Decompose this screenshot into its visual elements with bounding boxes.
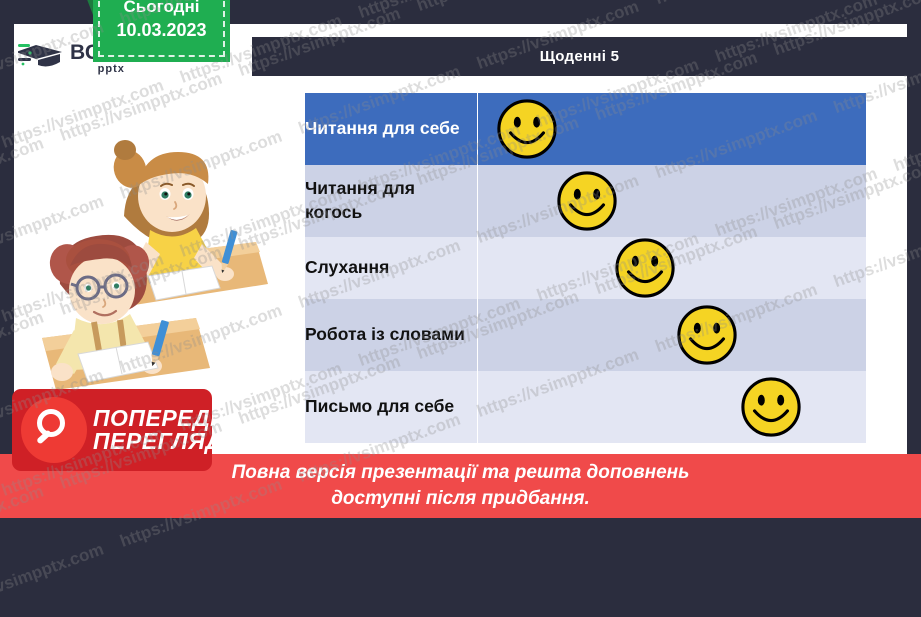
daily-five-table: Читання для себеЧитання для когосьСлухан… [305,93,866,443]
date-badge: Сьогодні 10.03.2023 [93,0,230,62]
magnifier-icon [21,397,87,463]
purchase-notice-line2: доступні після придбання. [331,487,590,512]
row-label: Робота із словами [305,299,477,371]
date-value: 10.03.2023 [116,20,206,41]
preview-badge-line2: ПЕРЕГЛЯД [93,430,251,453]
graduation-cap-icon [18,41,66,75]
smiley-face-icon [676,304,738,366]
table-row: Письмо для себе [305,371,866,443]
page-title: Щоденні 5 [252,37,907,76]
row-smiley-cell [477,165,866,237]
row-smiley-cell [477,299,866,371]
table-row: Читання для когось [305,165,866,237]
illustration-children-writing [24,124,274,414]
row-label: Читання для себе [305,93,477,165]
table-row: Читання для себе [305,93,866,165]
smiley-face-icon [614,237,676,299]
table-row: Робота із словами [305,299,866,371]
row-height-box [478,299,867,371]
row-label: Слухання [305,237,477,299]
logo-subtext: pptx [70,64,125,75]
row-height-box [478,93,867,165]
row-height-box [478,371,867,443]
row-height-box [478,165,867,237]
purchase-notice-line1: Повна версія презентації та решта доповн… [232,461,690,486]
table-row: Слухання [305,237,866,299]
preview-badge-line1: ПОПЕРЕДНІЙ [93,407,251,430]
smiley-face-icon [496,98,558,160]
preview-badge[interactable]: ПОПЕРЕДНІЙ ПЕРЕГЛЯД [12,389,212,471]
row-smiley-cell [477,237,866,299]
row-smiley-cell [477,93,866,165]
row-height-box [478,237,867,299]
row-label: Читання для когось [305,165,477,237]
smiley-face-icon [740,376,802,438]
smiley-face-icon [556,170,618,232]
row-smiley-cell [477,371,866,443]
row-label: Письмо для себе [305,371,477,443]
date-label: Сьогодні [124,0,200,17]
